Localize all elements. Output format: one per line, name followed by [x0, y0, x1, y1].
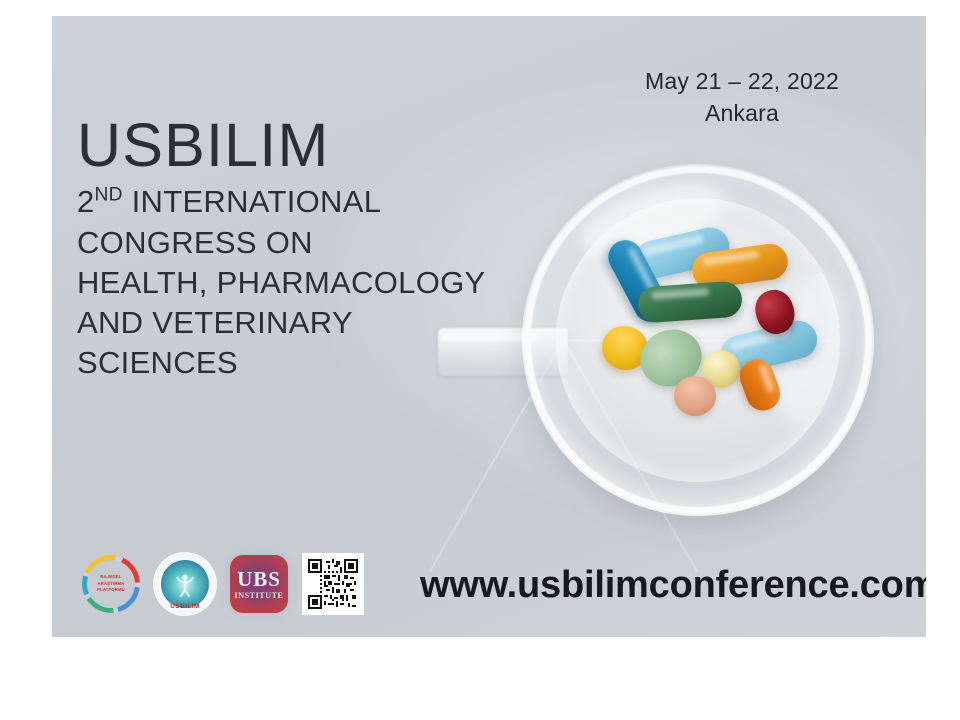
poster-footer: BILIMSEL ARAŞTIRMA PLATFORMU INTERNATION…: [52, 527, 926, 637]
pill-green-capsule: [637, 280, 743, 323]
ubs-secondary-text: INSTITUTE: [235, 592, 284, 600]
colour-ring-logo[interactable]: BILIMSEL ARAŞTIRMA PLATFORMU: [82, 555, 140, 613]
badge-word: USBILIM: [154, 603, 216, 610]
website-url[interactable]: www.usbilimconference.com: [420, 564, 926, 607]
event-date: May 21 – 22, 2022: [612, 66, 872, 98]
ordinal-suffix: ND: [95, 185, 123, 206]
ring-logo-text: BILIMSEL ARAŞTIRMA PLATFORMU: [82, 555, 140, 613]
pills-in-cup-photo: [382, 146, 926, 546]
conference-poster: May 21 – 22, 2022 Ankara USBILIM 2ND INT…: [52, 16, 926, 637]
event-date-block: May 21 – 22, 2022 Ankara: [612, 66, 872, 129]
ubs-primary-text: UBS: [237, 569, 281, 590]
ring-text-line-3: PLATFORMU: [97, 587, 125, 594]
badge-arc-text-value: INTERNATIONAL CONGRESS ON HEALTH SCIENCE…: [157, 555, 213, 563]
ubs-institute-logo[interactable]: UBS INSTITUTE: [230, 555, 288, 613]
screenshot-canvas: May 21 – 22, 2022 Ankara USBILIM 2ND INT…: [0, 0, 960, 720]
ordinal-number: 2: [77, 184, 95, 219]
qr-code[interactable]: [302, 553, 364, 615]
event-city: Ankara: [612, 98, 872, 130]
logo-strip: BILIMSEL ARAŞTIRMA PLATFORMU INTERNATION…: [82, 553, 364, 615]
qr-code-icon: [308, 559, 358, 609]
subtitle-word-international: INTERNATIONAL: [132, 184, 382, 219]
usbilim-badge-logo[interactable]: INTERNATIONAL CONGRESS ON HEALTH SCIENCE…: [154, 553, 216, 615]
clear-plastic-cup: [522, 164, 874, 516]
